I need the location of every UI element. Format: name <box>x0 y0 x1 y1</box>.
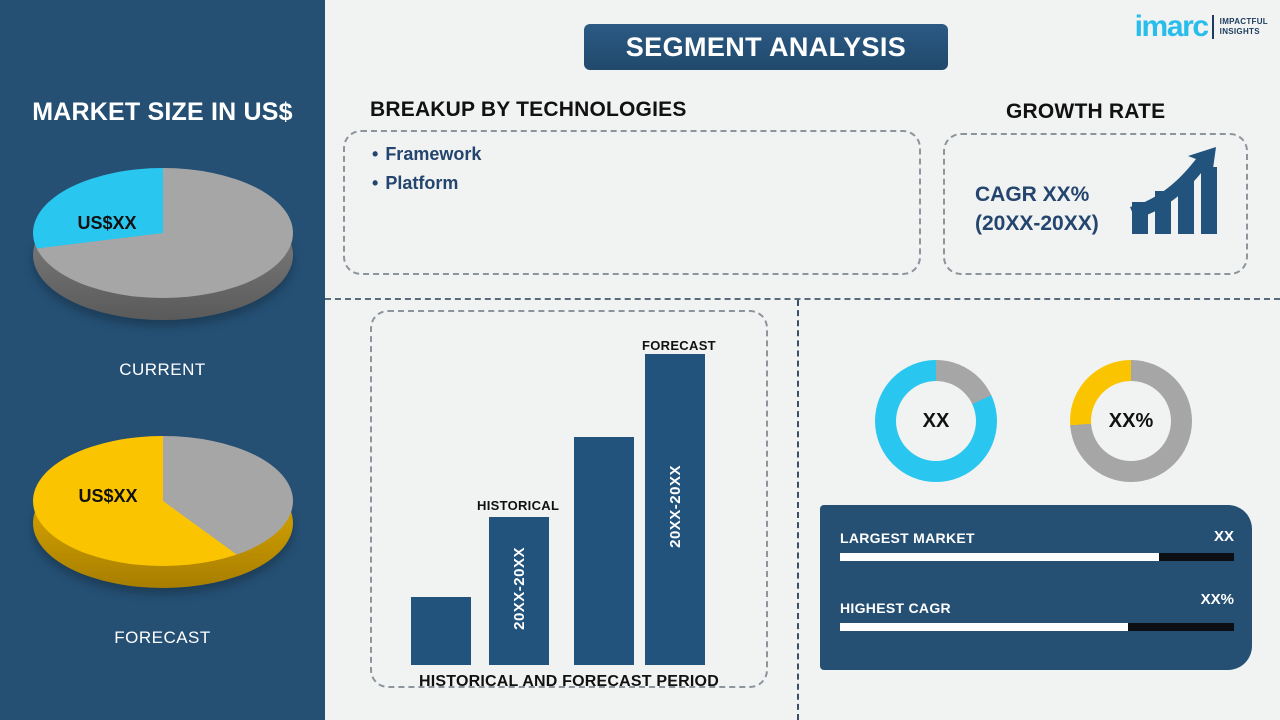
highest-cagr-track <box>840 623 1234 631</box>
technologies-title: BREAKUP BY TECHNOLOGIES <box>370 98 687 122</box>
market-share-donut: XX <box>875 360 997 482</box>
highest-cagr-fill <box>840 623 1128 631</box>
bar-4-range-label: 20XX-20XX <box>667 465 684 548</box>
bar-3 <box>574 437 634 665</box>
historical-annotation: HISTORICAL <box>477 498 559 513</box>
period-chart-caption: HISTORICAL AND FORECAST PERIOD <box>370 673 768 691</box>
infographic-canvas: MARKET SIZE IN US$ US$XX CURRENT US$XX F… <box>0 0 1280 720</box>
bar-2-range-label: 20XX-20XX <box>511 547 528 630</box>
pie-top-current <box>33 168 293 298</box>
largest-market-track <box>840 553 1234 561</box>
forecast-annotation: FORECAST <box>642 338 716 353</box>
market-share-donut-hole: XX <box>896 381 976 461</box>
logo-tagline-line2: INSIGHTS <box>1220 27 1268 37</box>
growth-rate-title: GROWTH RATE <box>1006 100 1165 124</box>
largest-market-value: XX <box>1214 528 1234 545</box>
bar-2: 20XX-20XX <box>489 517 549 665</box>
pie-top-forecast <box>33 436 293 566</box>
cagr-line-2: (20XX-20XX) <box>975 209 1099 238</box>
largest-market-label: LARGEST MARKET <box>840 530 975 546</box>
list-item: •Platform <box>372 169 481 198</box>
cagr-line-1: CAGR XX% <box>975 180 1099 209</box>
technology-label: Framework <box>385 144 481 164</box>
highest-cagr-value: XX% <box>1201 591 1234 608</box>
bullet-icon: • <box>372 173 378 193</box>
cagr-donut-hole: XX% <box>1091 381 1171 461</box>
list-item: •Framework <box>372 140 481 169</box>
largest-market-fill <box>840 553 1159 561</box>
imarc-logo: imarc IMPACTFUL INSIGHTS <box>1135 12 1268 42</box>
growth-arrow-chart-icon <box>1128 145 1220 240</box>
logo-divider <box>1212 15 1214 39</box>
highest-cagr-label: HIGHEST CAGR <box>840 600 951 616</box>
market-size-title: MARKET SIZE IN US$ <box>0 98 325 127</box>
current-pie-value-label: US$XX <box>78 213 137 234</box>
period-bar-chart: HISTORICAL 20XX-20XX FORECAST 20XX-20XX <box>370 330 768 665</box>
market-share-donut-label: XX <box>923 410 950 433</box>
logo-tagline-line1: IMPACTFUL <box>1220 17 1268 27</box>
horizontal-divider <box>325 298 1280 300</box>
forecast-pie-value-label: US$XX <box>79 486 138 507</box>
current-pie-caption: CURRENT <box>0 360 325 380</box>
cagr-donut: XX% <box>1070 360 1192 482</box>
market-highlights-panel: LARGEST MARKET XX HIGHEST CAGR XX% <box>820 505 1252 670</box>
bar-1 <box>411 597 471 665</box>
forecast-pie-caption: FORECAST <box>0 628 325 648</box>
logo-tagline: IMPACTFUL INSIGHTS <box>1220 17 1268 37</box>
forecast-market-size-pie: US$XX <box>0 436 325 596</box>
logo-wordmark: imarc <box>1135 12 1208 42</box>
market-size-panel: MARKET SIZE IN US$ US$XX CURRENT US$XX F… <box>0 0 325 720</box>
technologies-list: •Framework •Platform <box>372 140 481 198</box>
vertical-divider <box>797 300 799 720</box>
cagr-donut-label: XX% <box>1109 410 1153 433</box>
page-title-badge: SEGMENT ANALYSIS <box>584 24 948 70</box>
bullet-icon: • <box>372 144 378 164</box>
technology-label: Platform <box>385 173 458 193</box>
bar-4: 20XX-20XX <box>645 354 705 665</box>
current-market-size-pie: US$XX <box>0 168 325 328</box>
page-title: SEGMENT ANALYSIS <box>626 32 906 63</box>
cagr-text: CAGR XX% (20XX-20XX) <box>975 180 1099 238</box>
